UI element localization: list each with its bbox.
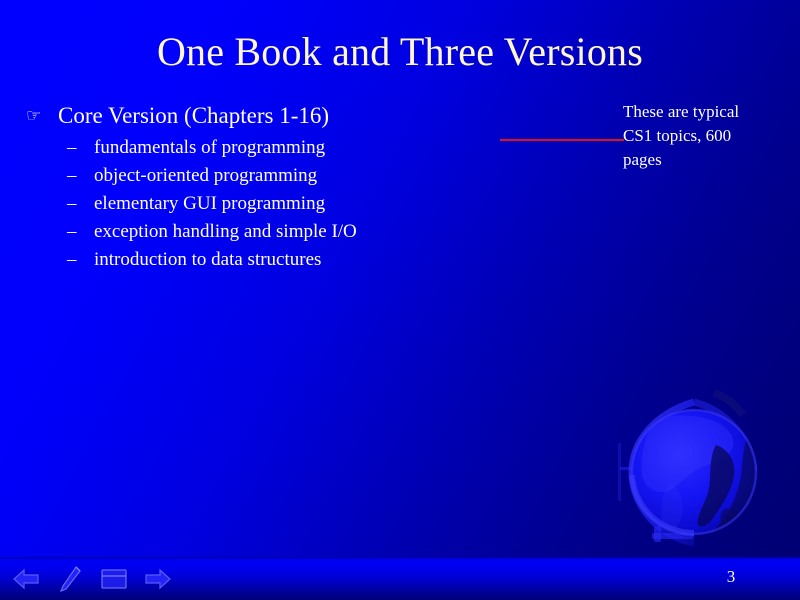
callout-line-2: CS1 topics, 600 [623,124,795,148]
slide-title: One Book and Three Versions [0,28,800,76]
list-item: – object-oriented programming [26,162,486,190]
callout-annotation: These are typical CS1 topics, 600 pages [623,100,795,172]
bullet-level1: ☞ Core Version (Chapters 1-16) [26,101,486,131]
sub-bullet-label: exception handling and simple I/O [94,218,486,246]
callout-line-1: These are typical [623,100,795,124]
sub-bullet-label: fundamentals of programming [94,134,486,162]
sub-bullet-label: elementary GUI programming [94,190,486,218]
callout-line-3: pages [623,148,795,172]
hand-pointer-bullet-icon: ☞ [26,101,58,131]
red-leader-line [500,139,624,141]
page-number: 3 [716,566,746,588]
dash-bullet-icon: – [67,162,94,190]
dash-bullet-icon: – [67,190,94,218]
presentation-slide: One Book and Three Versions ☞ Core Versi… [0,0,800,600]
slide-navigation-bar [0,557,180,600]
sub-bullet-label: introduction to data structures [94,246,486,274]
sub-bullet-list: – fundamentals of programming – object-o… [26,134,486,274]
pen-annotate-button[interactable] [52,564,88,594]
list-item: – elementary GUI programming [26,190,486,218]
slide-page-button[interactable] [96,564,132,594]
dash-bullet-icon: – [67,134,94,162]
globe-watermark [598,383,798,563]
previous-slide-arrow[interactable] [8,564,44,594]
sub-bullet-label: object-oriented programming [94,162,486,190]
list-item: – exception handling and simple I/O [26,218,486,246]
bullet-list: ☞ Core Version (Chapters 1-16) – fundame… [26,101,486,274]
list-item: – fundamentals of programming [26,134,486,162]
dash-bullet-icon: – [67,246,94,274]
bullet-level1-label: Core Version (Chapters 1-16) [58,101,486,130]
dash-bullet-icon: – [67,218,94,246]
list-item: – introduction to data structures [26,246,486,274]
next-slide-arrow[interactable] [140,564,176,594]
